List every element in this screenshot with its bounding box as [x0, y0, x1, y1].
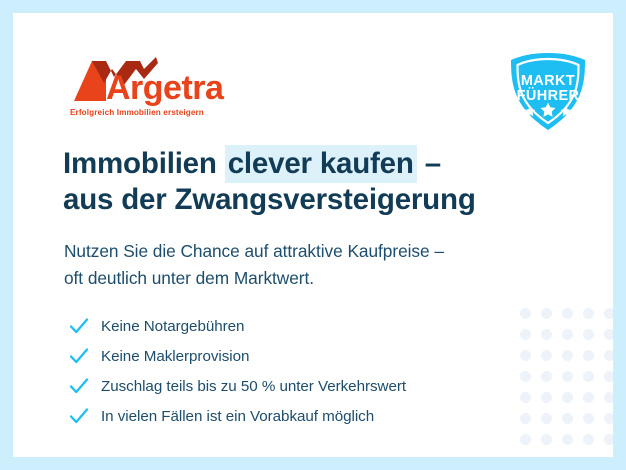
svg-text:MARKT: MARKT: [521, 73, 575, 89]
grid-dot: [562, 308, 573, 319]
grid-dot: [583, 413, 594, 424]
grid-dot: [562, 434, 573, 445]
logo-tagline: Erfolgreich Immobilien ersteigern: [70, 108, 204, 117]
list-item: Keine Notargebühren: [68, 311, 406, 341]
svg-text:FÜHRER: FÜHRER: [517, 87, 580, 104]
grid-dot: [604, 434, 613, 445]
subheading-line-1: Nutzen Sie die Chance auf attraktive Kau…: [64, 238, 564, 265]
subheading: Nutzen Sie die Chance auf attraktive Kau…: [64, 238, 564, 292]
headline-line-2: aus der Zwangsversteigerung: [63, 182, 543, 218]
check-icon: [68, 315, 90, 337]
benefits-list: Keine Notargebühren Keine Maklerprovisio…: [68, 311, 406, 431]
dot-grid-decoration: [520, 308, 613, 455]
grid-dot: [562, 392, 573, 403]
grid-dot: [583, 350, 594, 361]
list-item: In vielen Fällen ist ein Vorabkauf mögli…: [68, 401, 406, 431]
grid-dot: [541, 413, 552, 424]
grid-dot: [604, 329, 613, 340]
shield-badge-icon: MARKT FÜHRER: [506, 51, 590, 133]
grid-dot: [541, 308, 552, 319]
grid-dot: [562, 413, 573, 424]
grid-dot: [562, 350, 573, 361]
grid-dot: [604, 350, 613, 361]
grid-dot: [520, 392, 531, 403]
grid-dot: [604, 413, 613, 424]
argetra-logo: Argetra Erfolgreich Immobilien ersteiger…: [70, 57, 270, 123]
grid-dot: [520, 350, 531, 361]
list-item-label: In vielen Fällen ist ein Vorabkauf mögli…: [101, 408, 374, 425]
headline: Immobilien clever kaufen – aus der Zwang…: [63, 146, 543, 218]
grid-dot: [583, 371, 594, 382]
list-item-label: Keine Notargebühren: [101, 318, 244, 335]
grid-dot: [583, 329, 594, 340]
grid-dot: [520, 308, 531, 319]
grid-dot: [520, 413, 531, 424]
grid-dot: [520, 434, 531, 445]
grid-dot: [604, 392, 613, 403]
grid-dot: [541, 434, 552, 445]
headline-highlight: clever kaufen: [225, 145, 417, 183]
grid-dot: [520, 329, 531, 340]
grid-dot: [562, 329, 573, 340]
grid-dot: [562, 371, 573, 382]
headline-line-1-before: Immobilien: [63, 147, 225, 180]
list-item-label: Zuschlag teils bis zu 50 % unter Verkehr…: [101, 378, 406, 395]
headline-line-1: Immobilien clever kaufen –: [63, 146, 543, 182]
headline-line-1-after: –: [417, 147, 441, 180]
check-icon: [68, 375, 90, 397]
grid-dot: [541, 392, 552, 403]
check-icon: [68, 405, 90, 427]
market-leader-badge: MARKT FÜHRER: [506, 51, 590, 133]
grid-dot: [583, 308, 594, 319]
grid-dot: [541, 329, 552, 340]
grid-dot: [520, 371, 531, 382]
grid-dot: [583, 392, 594, 403]
list-item: Keine Maklerprovision: [68, 341, 406, 371]
argetra-logo-icon: Argetra: [70, 57, 270, 107]
list-item-label: Keine Maklerprovision: [101, 348, 249, 365]
list-item: Zuschlag teils bis zu 50 % unter Verkehr…: [68, 371, 406, 401]
promo-banner: Argetra Erfolgreich Immobilien ersteiger…: [0, 0, 626, 470]
banner-card: Argetra Erfolgreich Immobilien ersteiger…: [13, 13, 613, 457]
grid-dot: [604, 308, 613, 319]
grid-dot: [583, 434, 594, 445]
grid-dot: [541, 350, 552, 361]
check-icon: [68, 345, 90, 367]
svg-text:Argetra: Argetra: [106, 69, 225, 107]
grid-dot: [604, 371, 613, 382]
grid-dot: [541, 371, 552, 382]
subheading-line-2: oft deutlich unter dem Marktwert.: [64, 265, 564, 292]
